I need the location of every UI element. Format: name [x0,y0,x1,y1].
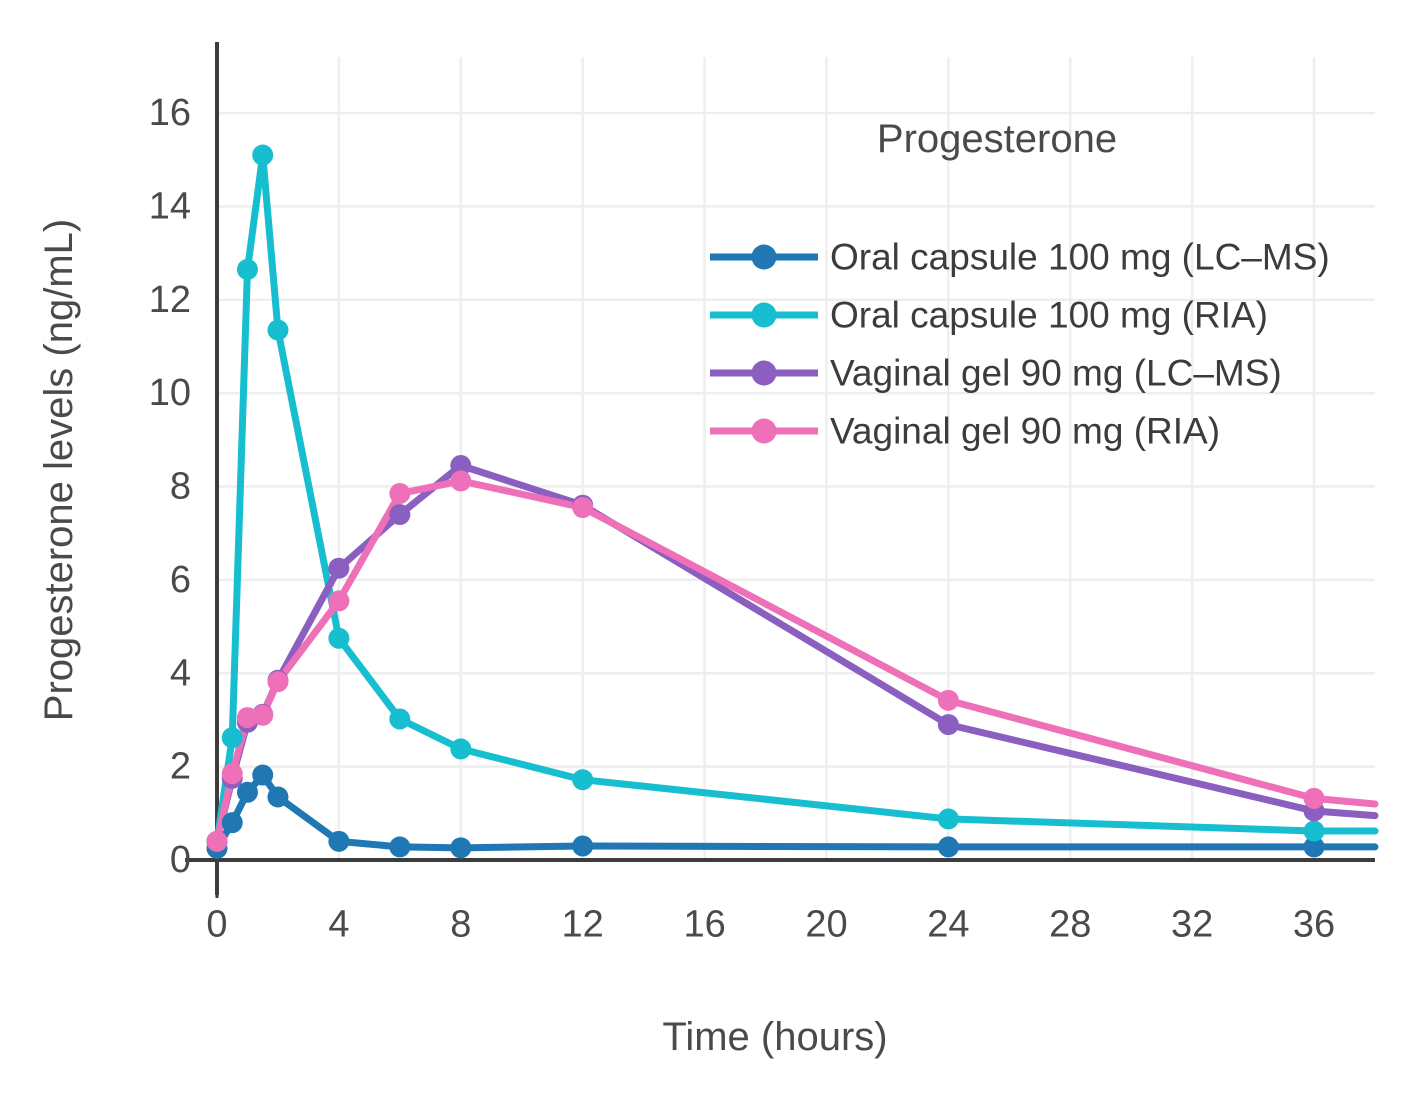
data-point-marker [389,836,410,857]
data-point-marker [572,769,593,790]
data-point-marker [938,836,959,857]
ticks-layer: 024681012141604812162024283236 [149,92,1335,945]
x-tick-label: 20 [805,903,847,945]
legend-label: Vaginal gel 90 mg (RIA) [830,411,1220,452]
data-point-marker [222,812,243,833]
chart-canvas: 024681012141604812162024283236 Oral caps… [0,0,1423,1102]
x-tick-label: 28 [1049,903,1091,945]
x-tick-label: 32 [1171,903,1213,945]
data-point-marker [572,835,593,856]
x-axis-label: Time (hours) [662,1015,887,1059]
y-tick-label: 12 [149,279,191,321]
data-point-marker [237,259,258,280]
y-tick-label: 8 [170,466,191,508]
chart-title: Progesterone [877,117,1117,161]
data-point-marker [389,504,410,525]
data-point-marker [389,483,410,504]
x-tick-label: 8 [450,903,471,945]
legend-layer: Oral capsule 100 mg (LC–MS)Oral capsule … [710,237,1330,452]
data-point-marker [252,765,273,786]
data-point-marker [267,320,288,341]
data-point-marker [328,831,349,852]
x-tick-label: 12 [562,903,604,945]
x-tick-label: 36 [1293,903,1335,945]
data-point-marker [252,145,273,166]
legend-label: Vaginal gel 90 mg (LC–MS) [830,353,1282,394]
data-point-marker [1304,821,1325,842]
data-point-marker [267,786,288,807]
data-point-marker [328,628,349,649]
y-tick-label: 4 [170,652,191,694]
legend-label: Oral capsule 100 mg (LC–MS) [830,237,1330,278]
data-point-marker [1304,788,1325,809]
data-point-marker [450,470,471,491]
y-tick-label: 6 [170,559,191,601]
data-point-marker [450,837,471,858]
data-point-marker [207,831,228,852]
legend-swatch-marker [752,419,777,444]
legend-entry[interactable]: Vaginal gel 90 mg (LC–MS) [710,353,1282,394]
y-tick-label: 16 [149,92,191,134]
y-tick-label: 14 [149,185,191,227]
data-point-marker [450,738,471,759]
data-point-marker [252,705,273,726]
x-tick-label: 0 [206,903,227,945]
data-point-marker [267,671,288,692]
progesterone-chart-figure: 024681012141604812162024283236 Oral caps… [0,0,1423,1102]
data-point-marker [328,558,349,579]
y-tick-label: 10 [149,372,191,414]
x-tick-label: 24 [927,903,969,945]
legend-swatch-marker [752,361,777,386]
legend-swatch-marker [752,245,777,270]
legend-swatch-marker [752,303,777,328]
y-axis-label: Progesterone levels (ng/mL) [37,219,81,721]
data-point-marker [222,727,243,748]
legend-entry[interactable]: Vaginal gel 90 mg (RIA) [710,411,1220,452]
data-point-marker [938,690,959,711]
data-point-marker [328,590,349,611]
data-point-marker [222,763,243,784]
data-point-marker [389,709,410,730]
x-tick-label: 4 [328,903,349,945]
grid-layer [217,57,1375,860]
x-tick-label: 16 [683,903,725,945]
data-point-marker [572,497,593,518]
y-tick-label: 0 [170,839,191,881]
series-line-2 [217,466,1375,842]
data-point-marker [938,714,959,735]
legend-entry[interactable]: Oral capsule 100 mg (LC–MS) [710,237,1330,278]
y-tick-label: 2 [170,746,191,788]
data-point-marker [938,808,959,829]
legend-label: Oral capsule 100 mg (RIA) [830,295,1268,336]
